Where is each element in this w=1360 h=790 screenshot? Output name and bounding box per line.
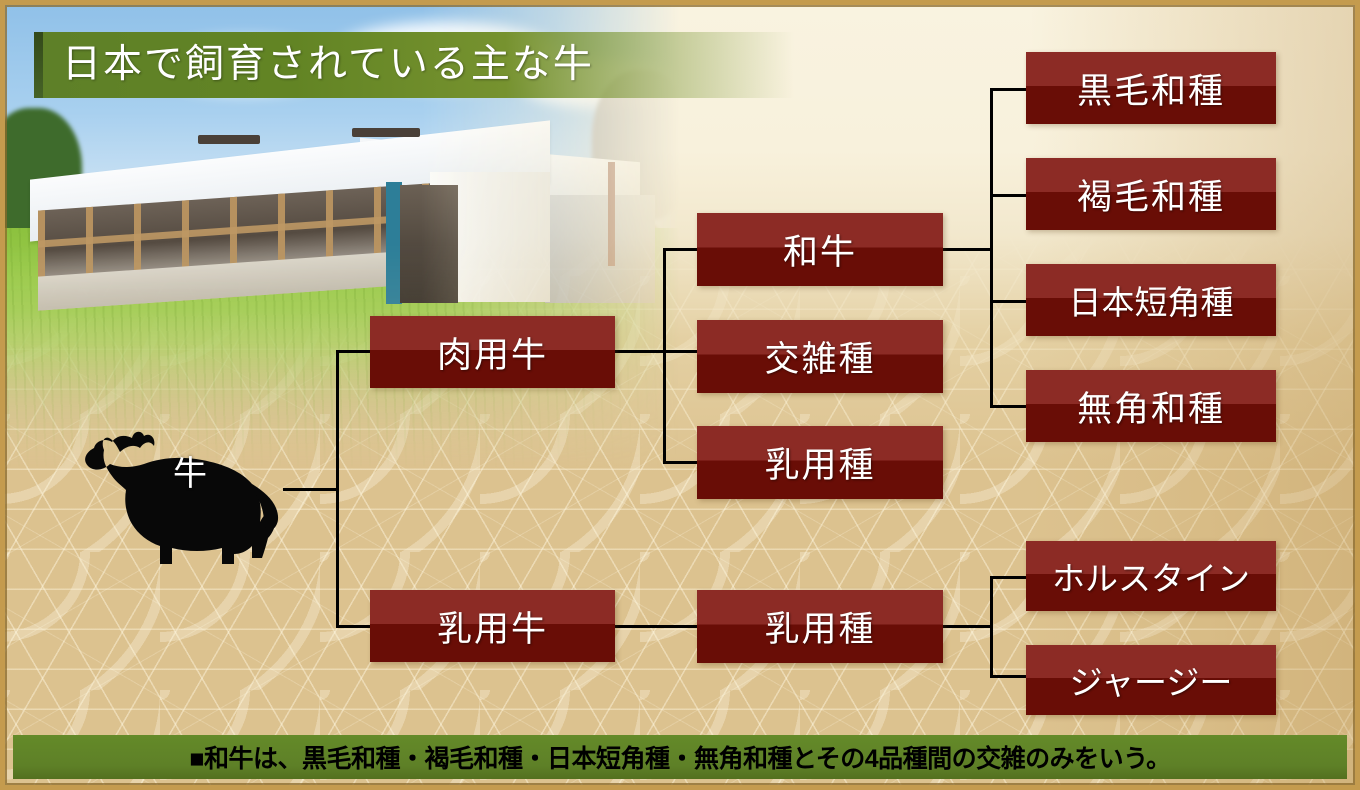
connector-to-japanese-brown xyxy=(990,194,1028,197)
node-label: 無角和種 xyxy=(1077,381,1225,432)
connector-to-dairy-type xyxy=(663,461,699,464)
connector-beef-trunk xyxy=(663,248,666,464)
connector-dairy-out-stub xyxy=(614,625,699,628)
node-dairy-cattle[interactable]: 乳用牛 xyxy=(370,590,615,662)
node-beef-cattle[interactable]: 肉用牛 xyxy=(370,316,615,388)
node-label: 肉用牛 xyxy=(437,327,548,378)
title-banner-edge xyxy=(34,32,43,98)
node-holstein[interactable]: ホルスタイン xyxy=(1026,541,1276,611)
connector-beef-out-stub xyxy=(614,350,666,353)
node-japanese-brown[interactable]: 褐毛和種 xyxy=(1026,158,1276,230)
connector-to-japanese-black xyxy=(990,88,1028,91)
node-japanese-polled[interactable]: 無角和種 xyxy=(1026,370,1276,442)
connector-root-stub xyxy=(283,488,339,491)
diagram-page: 日本で飼育されている主な牛 牛 肉用牛 乳用牛 和牛 xyxy=(0,0,1360,790)
node-label: ホルスタイン xyxy=(1052,552,1250,600)
connector-dairy-breeds-trunk xyxy=(990,576,993,678)
node-label: 乳用種 xyxy=(764,437,875,488)
photo-barn-door xyxy=(400,185,458,303)
node-label: 乳用種 xyxy=(764,601,875,652)
connector-wagyu-breeds-trunk xyxy=(990,88,993,408)
connector-to-jersey xyxy=(990,675,1028,678)
node-label: 黒毛和種 xyxy=(1077,63,1225,114)
node-label: ジャージー xyxy=(1070,656,1233,704)
node-label: 和牛 xyxy=(783,224,857,275)
connector-dairytype2-out-stub xyxy=(941,625,993,628)
photo-roof-vent xyxy=(352,128,420,137)
connector-to-japanese-polled xyxy=(990,405,1028,408)
node-crossbred[interactable]: 交雑種 xyxy=(697,320,943,393)
photo-roof-vent xyxy=(198,135,260,144)
footer-note-bar: ■和牛は、黒毛和種・褐毛和種・日本短角種・無角和種とその4品種間の交雑のみをいう… xyxy=(13,735,1347,779)
root-node-label: 牛 xyxy=(160,455,220,495)
node-jersey[interactable]: ジャージー xyxy=(1026,645,1276,715)
page-title: 日本で飼育されている主な牛 xyxy=(62,34,594,96)
connector-to-japanese-shorthorn xyxy=(990,300,1028,303)
connector-to-wagyu xyxy=(663,248,699,251)
connector-wagyu-out-stub xyxy=(941,248,993,251)
node-japanese-shorthorn[interactable]: 日本短角種 xyxy=(1026,264,1276,336)
cow-silhouette-icon xyxy=(76,428,286,568)
node-dairy-type[interactable]: 乳用種 xyxy=(697,426,943,499)
node-label: 日本短角種 xyxy=(1069,276,1234,324)
node-wagyu[interactable]: 和牛 xyxy=(697,213,943,286)
node-label: 乳用牛 xyxy=(437,601,548,652)
connector-to-crossbred xyxy=(663,350,699,353)
node-label: 褐毛和種 xyxy=(1077,169,1225,220)
node-japanese-black[interactable]: 黒毛和種 xyxy=(1026,52,1276,124)
footer-note-text: ■和牛は、黒毛和種・褐毛和種・日本短角種・無角和種とその4品種間の交雑のみをいう… xyxy=(189,739,1170,775)
connector-to-holstein xyxy=(990,576,1028,579)
node-dairy-type-2[interactable]: 乳用種 xyxy=(697,590,943,663)
connector-root-trunk xyxy=(336,350,339,628)
photo-grey-shed xyxy=(545,195,655,303)
photo-pole xyxy=(608,162,615,266)
node-label: 交雑種 xyxy=(764,331,875,382)
